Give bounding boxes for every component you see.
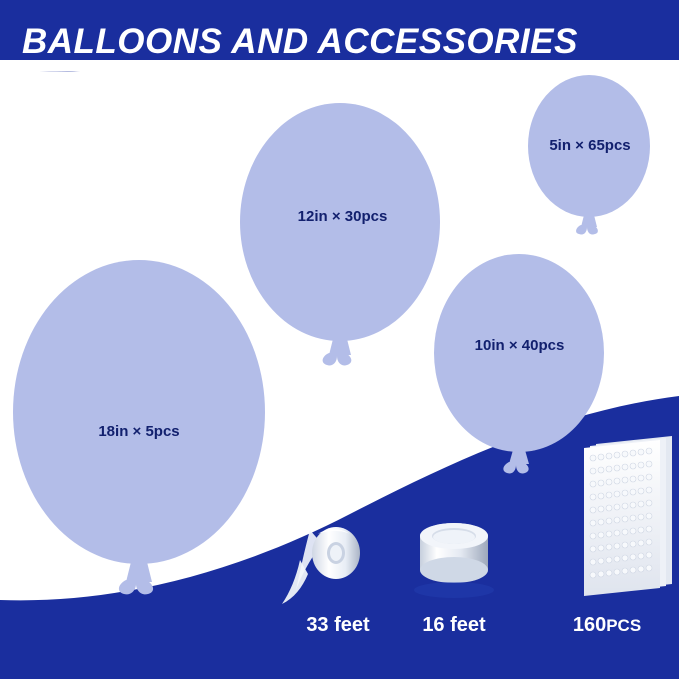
- page-title: BALLOONS AND ACCESSORIES: [22, 22, 672, 62]
- glue-dots-unit: PCS: [606, 616, 641, 635]
- ribbon-roll-label-text: 33 feet: [306, 614, 369, 636]
- ribbon-roll-shape: [282, 527, 360, 604]
- ribbon-roll-label: 33 feet: [288, 614, 388, 637]
- tape-roll-label-text: 16 feet: [422, 614, 485, 636]
- tape-roll-shape: [414, 523, 494, 598]
- balloon-12in-label: 12in × 30pcs: [270, 208, 415, 225]
- product-infographic: BALLOONS AND ACCESSORIES 18in × 5pcs 12i…: [0, 0, 679, 679]
- tape-roll-label: 16 feet: [404, 614, 504, 637]
- balloon-5in-label: 5in × 65pcs: [530, 137, 650, 154]
- glue-dots-sheet-shape: [584, 436, 672, 596]
- balloon-10in-label: 10in × 40pcs: [452, 337, 587, 354]
- balloon-18in-label: 18in × 5pcs: [74, 423, 204, 440]
- glue-dots-sheet-label: 160PCS: [552, 614, 662, 637]
- glue-dots-count: 160: [573, 614, 606, 636]
